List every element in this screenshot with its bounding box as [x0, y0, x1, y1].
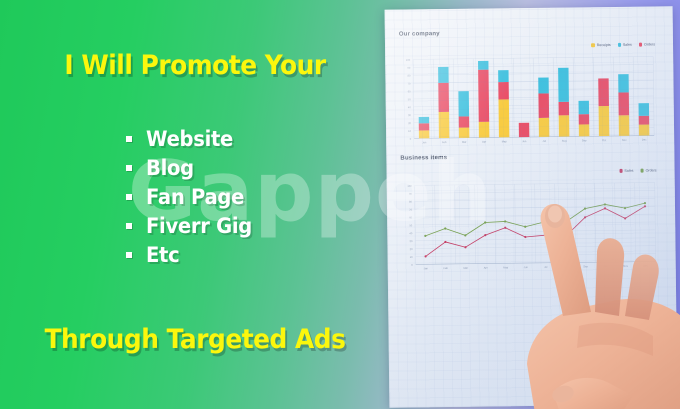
legend-item-receipts: Receipts: [591, 43, 610, 47]
list-item-label: Etc: [146, 243, 179, 267]
square-bullet-icon: [126, 136, 132, 142]
list-item-label: Fiverr Gig: [146, 214, 252, 238]
list-item: Fan Page: [126, 182, 260, 211]
svg-text:Jan: Jan: [424, 266, 429, 270]
svg-text:70: 70: [408, 82, 411, 86]
legend-item-sales: Sales: [618, 43, 632, 47]
legend-swatch-receipts: [591, 44, 594, 47]
svg-text:Jun: Jun: [522, 139, 527, 143]
svg-text:10: 10: [410, 255, 413, 259]
list-item: Website: [126, 124, 260, 153]
list-item-label: Blog: [146, 156, 194, 180]
legend-label-orders: Orders: [644, 42, 655, 46]
service-list: Website Blog Fan Page Fiverr Gig Etc: [126, 124, 260, 269]
svg-text:0: 0: [410, 137, 412, 141]
promo-graphic: Our company Receipts Sales Orders: [0, 0, 680, 409]
legend-item-orders: Orders: [639, 42, 655, 46]
svg-text:10: 10: [408, 129, 411, 133]
svg-text:May: May: [502, 139, 508, 143]
svg-text:Nov: Nov: [623, 264, 628, 268]
square-bullet-icon: [126, 165, 132, 171]
list-item: Etc: [126, 240, 260, 269]
svg-text:Jul: Jul: [544, 265, 548, 269]
svg-text:Nov: Nov: [622, 138, 627, 142]
svg-text:Oct: Oct: [604, 264, 608, 268]
plot-area-bars: 0102030405060708090100JanFebMarAprMayJun…: [399, 52, 658, 147]
svg-text:May: May: [503, 265, 509, 269]
svg-text:60: 60: [408, 89, 411, 93]
square-bullet-icon: [126, 194, 132, 200]
chart-title-our-company: Our company: [399, 28, 657, 37]
svg-text:Apr: Apr: [484, 266, 488, 270]
legend-label-line-sales: Sales: [624, 169, 633, 173]
list-item: Blog: [126, 153, 260, 182]
headline: I Will Promote Your: [16, 50, 375, 81]
svg-text:Jun: Jun: [524, 265, 529, 269]
svg-text:80: 80: [407, 74, 410, 78]
svg-text:30: 30: [408, 113, 411, 117]
legend-swatch-line-orders: [640, 169, 643, 172]
svg-text:40: 40: [408, 105, 411, 109]
svg-text:Dec: Dec: [643, 264, 648, 268]
legend-item-line-sales: Sales: [619, 169, 633, 173]
svg-text:Feb: Feb: [443, 266, 448, 270]
legend-item-line-orders: Orders: [640, 168, 656, 172]
legend-label-line-orders: Orders: [646, 168, 657, 172]
bar-chart-svg: 0102030405060708090100JanFebMarAprMayJun…: [399, 52, 658, 147]
svg-text:Sep: Sep: [583, 264, 588, 268]
legend-swatch-orders: [639, 43, 642, 46]
svg-text:Dec: Dec: [642, 138, 647, 142]
legend-swatch-sales: [618, 43, 621, 46]
svg-text:100: 100: [406, 58, 411, 62]
square-bullet-icon: [126, 223, 132, 229]
square-bullet-icon: [126, 252, 132, 258]
footline: Through Targeted Ads: [16, 324, 375, 355]
svg-text:Oct: Oct: [602, 138, 606, 142]
svg-text:20: 20: [410, 247, 413, 251]
svg-text:50: 50: [408, 97, 411, 101]
svg-text:Sep: Sep: [582, 138, 587, 142]
chart-legend-our-company: Receipts Sales Orders: [591, 42, 655, 47]
svg-text:20: 20: [408, 121, 411, 125]
chart-our-company: Our company Receipts Sales Orders: [399, 28, 658, 149]
svg-text:0: 0: [411, 263, 413, 267]
list-item-label: Fan Page: [146, 185, 244, 209]
chart-legend-business-items: Sales Orders: [619, 168, 656, 172]
svg-text:Aug: Aug: [563, 265, 568, 269]
svg-text:Aug: Aug: [562, 139, 567, 143]
svg-text:Mar: Mar: [463, 266, 468, 270]
svg-text:Jul: Jul: [543, 139, 547, 143]
list-item-label: Website: [146, 127, 233, 151]
list-item: Fiverr Gig: [126, 211, 260, 240]
legend-label-sales: Sales: [623, 43, 632, 47]
legend-label-receipts: Receipts: [597, 43, 611, 47]
svg-text:90: 90: [407, 66, 410, 70]
legend-swatch-line-sales: [619, 169, 622, 172]
